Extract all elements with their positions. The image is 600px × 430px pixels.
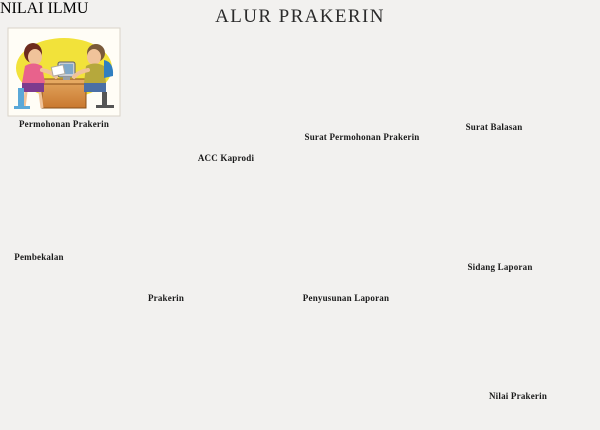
caption-acc-kaprodi: ACC Kaprodi — [198, 153, 254, 163]
caption-surat-permohonan: Surat Permohonan Prakerin — [305, 132, 420, 142]
caption-nilai-prakerin: Nilai Prakerin — [489, 391, 547, 401]
node-permohonan-illustration — [8, 28, 120, 116]
caption-penyusunan-laporan: Penyusunan Laporan — [303, 293, 389, 303]
caption-pembekalan: Pembekalan — [14, 252, 64, 262]
caption-permohonan: Permohonan Prakerin — [19, 119, 109, 129]
caption-sidang-laporan: Sidang Laporan — [467, 262, 532, 272]
caption-surat-balasan: Surat Balasan — [466, 122, 523, 132]
caption-prakerin: Prakerin — [148, 293, 184, 303]
flowchart-canvas — [0, 0, 600, 430]
